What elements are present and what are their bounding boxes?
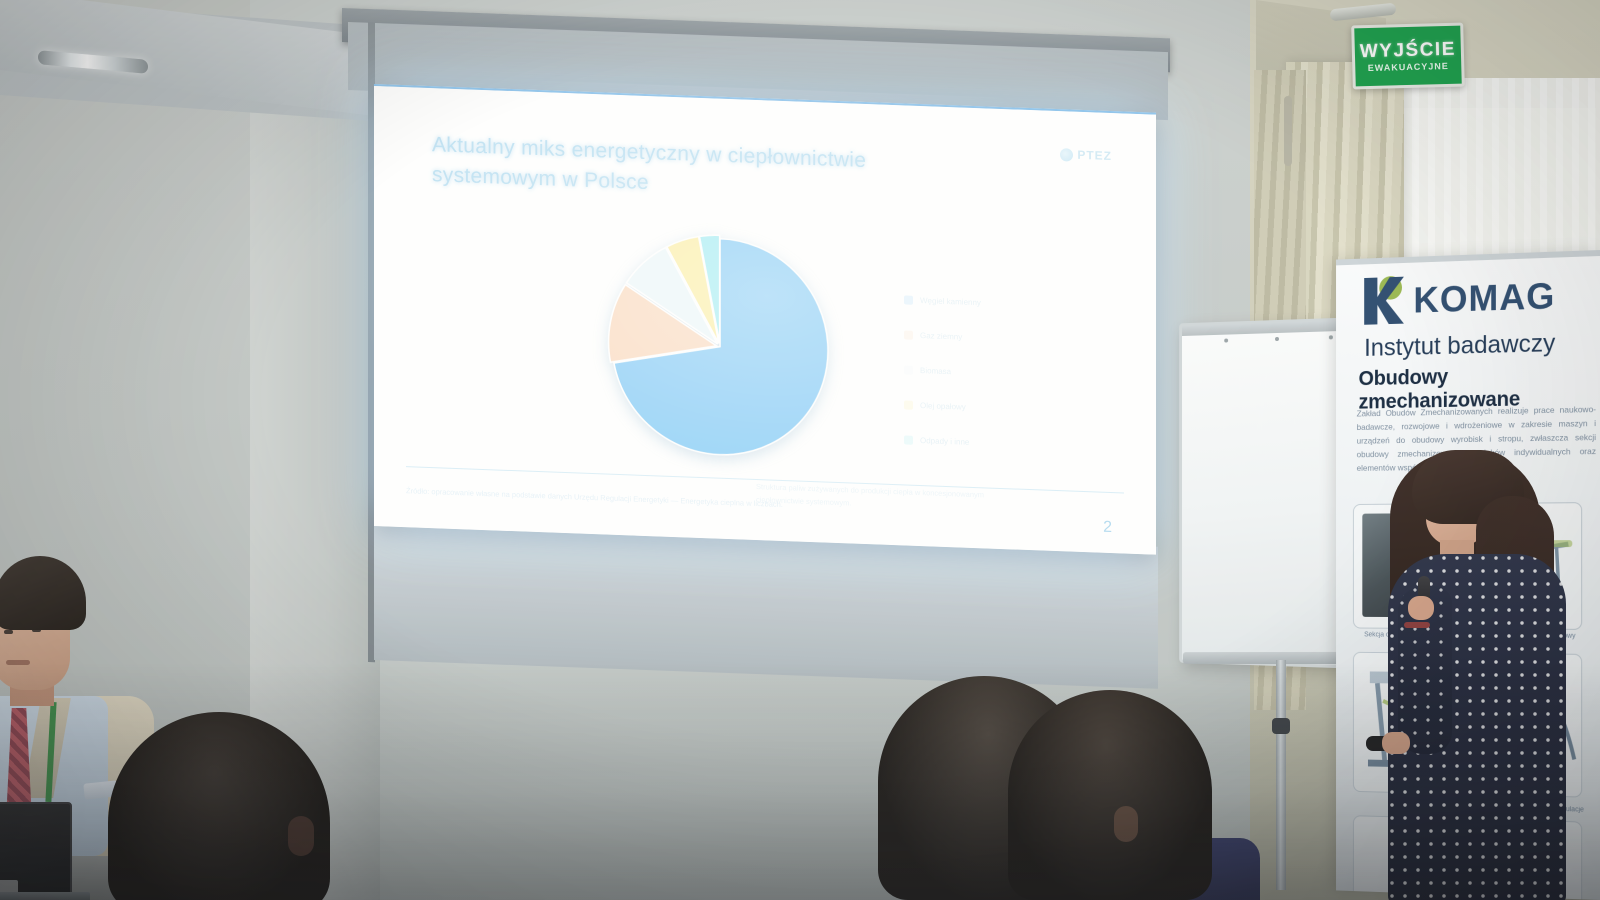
chart-legend: Węgiel kamienny Gaz ziemny Biomasa Olej … <box>904 295 1074 476</box>
komag-subtitle: Instytut badawczy <box>1364 329 1555 363</box>
slide-logo: PTEZ <box>1060 147 1112 163</box>
legend-label: Gaz ziemny <box>920 331 962 342</box>
komag-k-glyph <box>1360 275 1403 327</box>
legend-label: Biomasa <box>920 366 951 376</box>
exit-sign-primary-label: WYJŚCIE <box>1360 39 1456 61</box>
bracelet-icon <box>1404 622 1430 628</box>
legend-item: Gaz ziemny <box>904 330 1074 345</box>
legend-swatch-icon <box>904 295 913 304</box>
exit-sign: WYJŚCIE EWAKUACYJNE <box>1351 23 1465 90</box>
komag-logo: KOMAG <box>1360 270 1555 327</box>
flipchart-hole <box>1329 335 1333 339</box>
legend-label: Odpady i inne <box>920 436 969 447</box>
ptez-logo-icon <box>1060 148 1073 161</box>
legend-swatch-icon <box>904 435 913 444</box>
flipchart-hole <box>1224 339 1228 343</box>
legend-label: Węgiel kamienny <box>920 296 981 307</box>
slide-canvas: PTEZ Aktualny miks energetyczny w ciepło… <box>374 86 1156 555</box>
legend-swatch-icon <box>904 365 913 374</box>
presenter-hand-upper <box>1408 596 1434 620</box>
legend-item: Odpady i inne <box>904 435 1074 450</box>
legend-item: Węgiel kamienny <box>904 295 1074 310</box>
slide-page-number: 2 <box>1103 519 1112 537</box>
flipchart-hole <box>1275 337 1279 341</box>
legend-swatch-icon <box>904 400 913 409</box>
slide-title: Aktualny miks energetyczny w ciepłownict… <box>432 130 902 207</box>
pie-chart-svg <box>604 226 836 467</box>
pie-chart <box>604 226 836 467</box>
projected-slide: PTEZ Aktualny miks energetyczny w ciepło… <box>374 84 1156 555</box>
conference-room-scene: WYJŚCIE EWAKUACYJNE PTEZ Aktualny miks e… <box>0 0 1600 900</box>
komag-k-icon <box>1360 275 1403 327</box>
projection-screen: PTEZ Aktualny miks energetyczny w ciepło… <box>342 0 1182 690</box>
legend-swatch-icon <box>904 330 913 339</box>
legend-item: Olej opałowy <box>904 400 1074 415</box>
man-eye <box>4 630 13 634</box>
curtain-rod <box>1284 96 1292 166</box>
komag-brand-label: KOMAG <box>1413 277 1555 318</box>
exit-sign-secondary-label: EWAKUACYJNE <box>1368 61 1449 72</box>
legend-item: Biomasa <box>904 365 1074 380</box>
room-floor-shadow <box>0 660 1600 900</box>
slide-logo-label: PTEZ <box>1077 148 1112 163</box>
legend-label: Olej opałowy <box>920 401 966 412</box>
man-hair <box>0 556 86 630</box>
